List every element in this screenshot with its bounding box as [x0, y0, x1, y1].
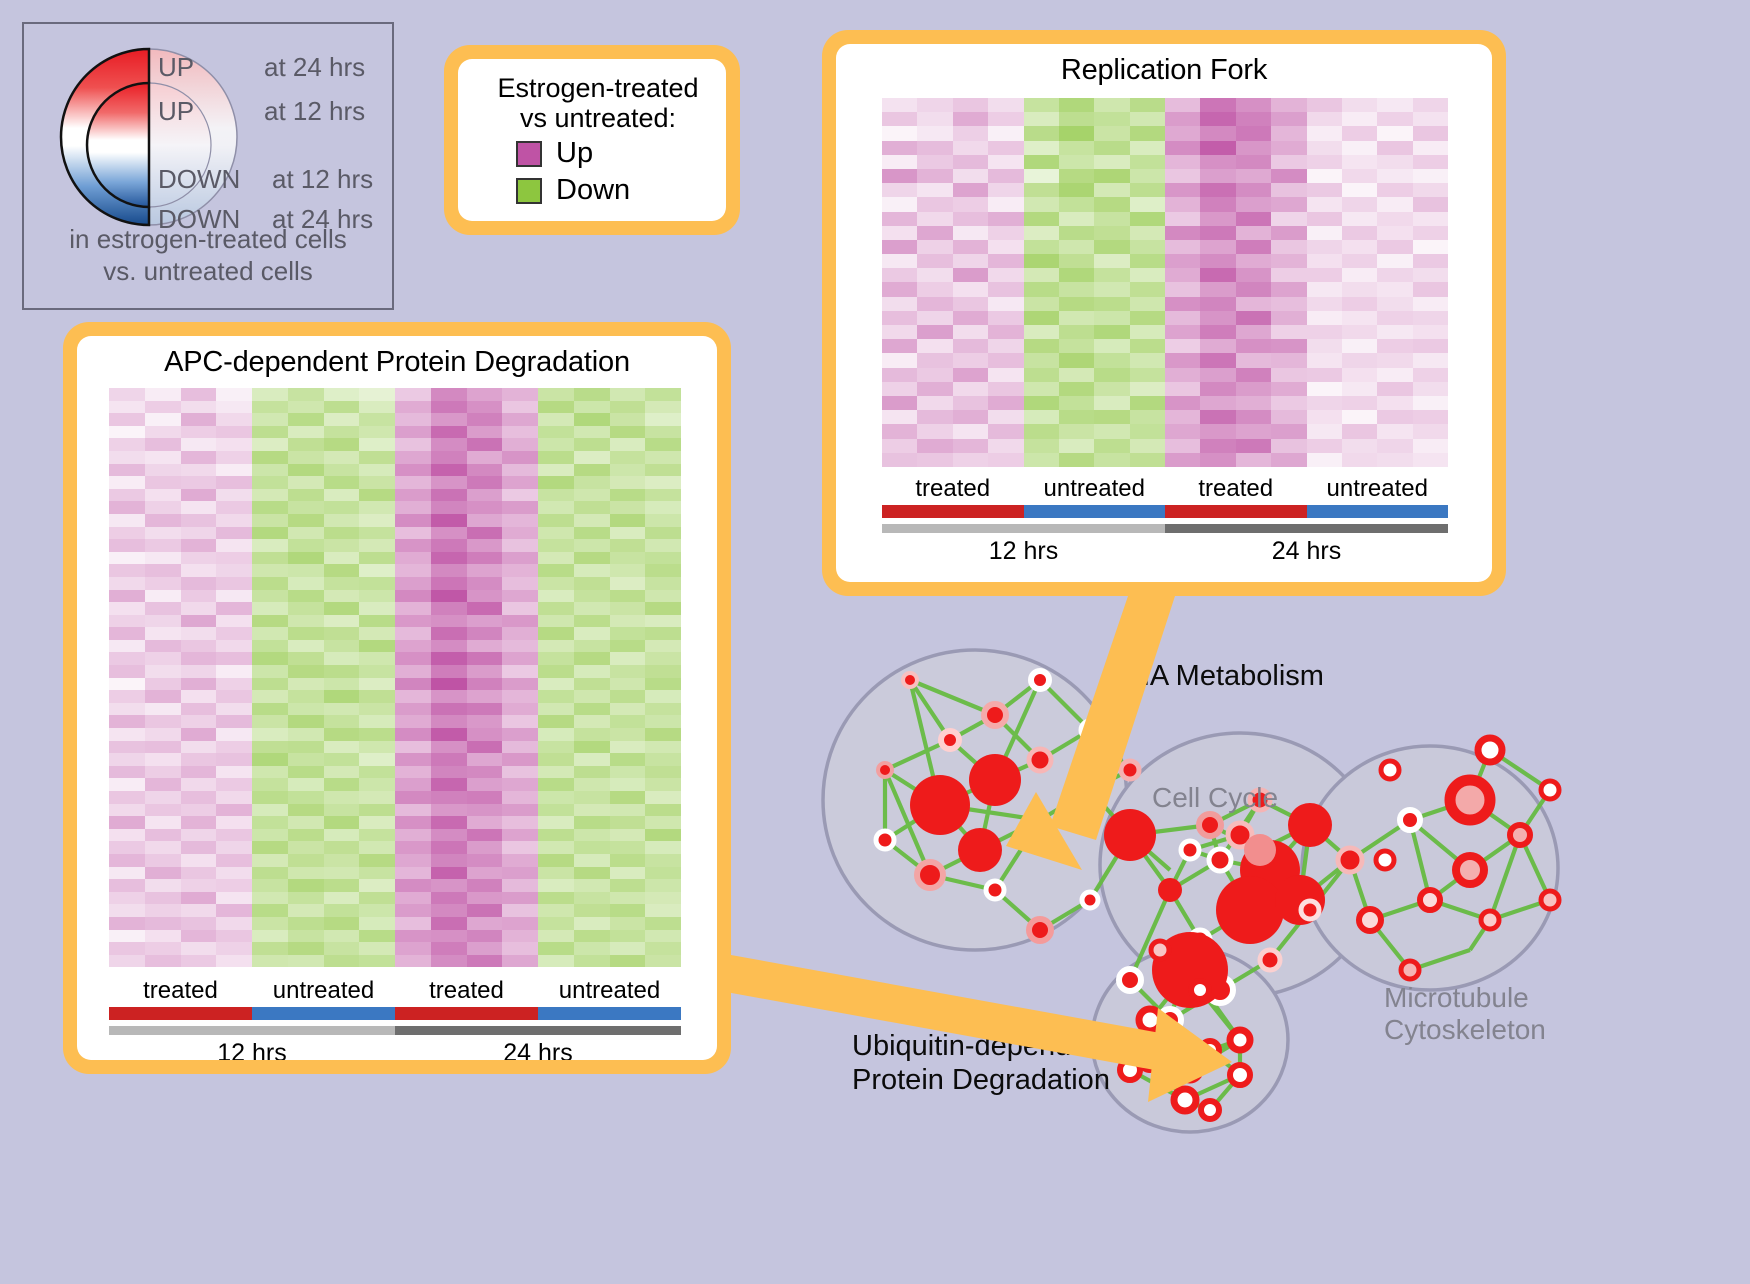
heatmap-cell: [109, 728, 145, 741]
heatmap-cell: [395, 413, 431, 426]
heatmap-cell: [610, 715, 646, 728]
heatmap-cell: [109, 464, 145, 477]
heatmap-cell: [359, 917, 395, 930]
heatmap-cell: [1130, 240, 1165, 254]
heatmap-cell: [431, 527, 467, 540]
heatmap-cell: [1200, 439, 1235, 453]
heatmap-cell: [574, 804, 610, 817]
heatmap-cell: [1271, 212, 1306, 226]
heatmap-cell: [645, 892, 681, 905]
heatmap-cell: [1377, 112, 1412, 126]
heatmap-cell: [610, 930, 646, 943]
heatmap-cell: [645, 854, 681, 867]
heatmap-cell: [1236, 353, 1271, 367]
heatmap-cell: [1059, 169, 1094, 183]
heatmap-cell: [645, 451, 681, 464]
heatmap-cell: [882, 424, 917, 438]
heatmap-cell: [1024, 424, 1059, 438]
heatmap-cell: [359, 791, 395, 804]
heatmap-cell: [1271, 197, 1306, 211]
pathway-network-diagram: DNA Metabolism Cell Cycle Microtubule Cy…: [790, 620, 1750, 1279]
heatmap-cell: [1165, 141, 1200, 155]
heatmap-cell: [953, 141, 988, 155]
heatmap-cell: [431, 678, 467, 691]
replication-fork-time-labels: 12 hrs24 hrs: [882, 537, 1448, 566]
heatmap-cell: [610, 539, 646, 552]
heatmap-cell: [1094, 155, 1129, 169]
heatmap-cell: [1377, 197, 1412, 211]
heatmap-cell: [574, 665, 610, 678]
heatmap-cell: [216, 627, 252, 640]
heatmap-cell: [109, 778, 145, 791]
heatmap-cell: [324, 527, 360, 540]
heatmap-cell: [1271, 254, 1306, 268]
heatmap-cell: [502, 464, 538, 477]
heatmap-cell: [1024, 353, 1059, 367]
heatmap-cell: [574, 930, 610, 943]
heatmap-cell: [181, 791, 217, 804]
heatmap-cell: [181, 652, 217, 665]
heatmap-cell: [467, 715, 503, 728]
heatmap-cell: [1413, 368, 1448, 382]
heatmap-cell: [431, 514, 467, 527]
heatmap-cell: [882, 382, 917, 396]
condition-label: treated: [109, 977, 252, 1005]
heatmap-cell: [181, 816, 217, 829]
heatmap-cell: [252, 766, 288, 779]
key-time-down-12: at 12 hrs: [272, 164, 373, 195]
heatmap-cell: [574, 413, 610, 426]
figure-canvas: UP at 24 hrs UP at 12 hrs DOWN at 12 hrs…: [0, 0, 1750, 1279]
heatmap-cell: [252, 879, 288, 892]
heatmap-cell: [1342, 368, 1377, 382]
heatmap-cell: [882, 112, 917, 126]
heatmap-cell: [145, 766, 181, 779]
heatmap-cell: [109, 438, 145, 451]
heatmap-cell: [645, 816, 681, 829]
heatmap-cell: [1271, 226, 1306, 240]
heatmap-cell: [1059, 368, 1094, 382]
heatmap-cell: [109, 791, 145, 804]
heatmap-cell: [1130, 353, 1165, 367]
heatmap-cell: [502, 577, 538, 590]
heatmap-cell: [145, 678, 181, 691]
heatmap-cell: [882, 396, 917, 410]
heatmap-cell: [1024, 311, 1059, 325]
heatmap-cell: [1024, 268, 1059, 282]
heatmap-cell: [1377, 98, 1412, 112]
heatmap-cell: [431, 778, 467, 791]
heatmap-cell: [288, 917, 324, 930]
heatmap-cell: [1200, 197, 1235, 211]
heatmap-cell: [216, 778, 252, 791]
heatmap-cell: [359, 942, 395, 955]
heatmap-cell: [431, 640, 467, 653]
heatmap-cell: [1130, 382, 1165, 396]
heatmap-cell: [1236, 254, 1271, 268]
heatmap-cell: [181, 879, 217, 892]
heatmap-cell: [1059, 98, 1094, 112]
heatmap-cell: [395, 955, 431, 968]
heatmap-cell: [502, 514, 538, 527]
heatmap-cell: [431, 388, 467, 401]
apc-title: APC-dependent Protein Degradation: [77, 336, 717, 379]
heatmap-cell: [145, 867, 181, 880]
heatmap-cell: [882, 98, 917, 112]
heatmap-cell: [467, 501, 503, 514]
heatmap-cell: [216, 728, 252, 741]
heatmap-cell: [467, 753, 503, 766]
heatmap-cell: [359, 778, 395, 791]
heatmap-cell: [288, 778, 324, 791]
heatmap-cell: [1342, 453, 1377, 467]
heatmap-cell: [610, 426, 646, 439]
heatmap-cell: [574, 527, 610, 540]
heatmap-cell: [359, 438, 395, 451]
heatmap-cell: [252, 476, 288, 489]
heatmap-cell: [1059, 226, 1094, 240]
heatmap-cell: [645, 438, 681, 451]
heatmap-cell: [181, 690, 217, 703]
heatmap-cell: [288, 602, 324, 615]
heatmap-cell: [145, 577, 181, 590]
heatmap-cell: [1377, 382, 1412, 396]
heatmap-cell: [288, 489, 324, 502]
heatmap-cell: [395, 401, 431, 414]
heatmap-cell: [395, 552, 431, 565]
heatmap-cell: [538, 690, 574, 703]
heatmap-cell: [145, 640, 181, 653]
heatmap-cell: [1024, 197, 1059, 211]
heatmap-cell: [324, 426, 360, 439]
heatmap-cell: [610, 652, 646, 665]
heatmap-cell: [538, 930, 574, 943]
heatmap-cell: [431, 489, 467, 502]
heatmap-cell: [145, 564, 181, 577]
cluster-label-cell-cycle: Cell Cycle: [1152, 782, 1278, 814]
heatmap-cell: [1271, 98, 1306, 112]
heatmap-cell: [359, 955, 395, 968]
panel-replication-fork: Replication Fork treateduntreatedtreated…: [822, 30, 1506, 596]
heatmap-cell: [181, 413, 217, 426]
heatmap-cell: [1165, 396, 1200, 410]
heatmap-cell: [431, 867, 467, 880]
heatmap-cell: [882, 297, 917, 311]
heatmap-cell: [1200, 410, 1235, 424]
heatmap-cell: [359, 627, 395, 640]
heatmap-cell: [1130, 297, 1165, 311]
heatmap-cell: [395, 904, 431, 917]
heatmap-cell: [1200, 282, 1235, 296]
heatmap-cell: [538, 955, 574, 968]
heatmap-cell: [953, 126, 988, 140]
heatmap-cell: [252, 930, 288, 943]
heatmap-cell: [1342, 141, 1377, 155]
heatmap-cell: [1094, 112, 1129, 126]
panel-apc-degradation: APC-dependent Protein Degradation treate…: [63, 322, 731, 1074]
heatmap-cell: [1165, 226, 1200, 240]
heatmap-cell: [988, 382, 1023, 396]
heatmap-cell: [288, 867, 324, 880]
heatmap-cell: [882, 311, 917, 325]
heatmap-cell: [502, 476, 538, 489]
heatmap-cell: [359, 867, 395, 880]
heatmap-cell: [953, 453, 988, 467]
heatmap-cell: [953, 339, 988, 353]
heatmap-cell: [145, 602, 181, 615]
heatmap-cell: [288, 627, 324, 640]
heatmap-cell: [882, 240, 917, 254]
heatmap-cell: [1236, 126, 1271, 140]
heatmap-cell: [324, 590, 360, 603]
heatmap-cell: [988, 353, 1023, 367]
heatmap-cell: [431, 577, 467, 590]
heatmap-cell: [917, 254, 952, 268]
heatmap-cell: [1307, 368, 1342, 382]
heatmap-cell: [324, 791, 360, 804]
heatmap-cell: [1094, 282, 1129, 296]
heatmap-cell: [610, 804, 646, 817]
heatmap-cell: [538, 615, 574, 628]
heatmap-cell: [1059, 268, 1094, 282]
heatmap-cell: [359, 640, 395, 653]
heatmap-cell: [953, 311, 988, 325]
heatmap-cell: [145, 753, 181, 766]
heatmap-cell: [359, 703, 395, 716]
heatmap-cell: [988, 98, 1023, 112]
heatmap-cell: [645, 829, 681, 842]
heatmap-replication-fork: [882, 98, 1448, 467]
heatmap-cell: [216, 841, 252, 854]
heatmap-cell: [216, 615, 252, 628]
heatmap-cell: [610, 552, 646, 565]
heatmap-cell: [610, 501, 646, 514]
heatmap-cell: [395, 942, 431, 955]
heatmap-cell: [1271, 453, 1306, 467]
heatmap-cell: [610, 514, 646, 527]
heatmap-cell: [288, 590, 324, 603]
heatmap-cell: [1059, 396, 1094, 410]
heatmap-cell: [1200, 112, 1235, 126]
heatmap-cell: [1024, 439, 1059, 453]
heatmap-cell: [252, 464, 288, 477]
heatmap-cell: [252, 627, 288, 640]
heatmap-cell: [1094, 126, 1129, 140]
heatmap-cell: [467, 766, 503, 779]
heatmap-cell: [324, 476, 360, 489]
heatmap-cell: [324, 778, 360, 791]
heatmap-cell: [431, 426, 467, 439]
heatmap-cell: [538, 640, 574, 653]
heatmap-cell: [953, 396, 988, 410]
heatmap-cell: [181, 841, 217, 854]
heatmap-cell: [1059, 453, 1094, 467]
heatmap-cell: [288, 942, 324, 955]
heatmap-cell: [610, 438, 646, 451]
legend-item-up: Up: [516, 137, 716, 170]
heatmap-cell: [109, 955, 145, 968]
heatmap-cell: [917, 197, 952, 211]
heatmap-cell: [502, 778, 538, 791]
condition-label: treated: [1165, 475, 1307, 503]
heatmap-cell: [917, 325, 952, 339]
heatmap-cell: [1024, 240, 1059, 254]
time-label: 24 hrs: [1165, 537, 1448, 566]
heatmap-cell: [1271, 282, 1306, 296]
heatmap-cell: [1307, 382, 1342, 396]
heatmap-cell: [917, 368, 952, 382]
heatmap-apc-degradation: [109, 388, 681, 967]
heatmap-cell: [467, 426, 503, 439]
heatmap-cell: [574, 715, 610, 728]
heatmap-cell: [1271, 112, 1306, 126]
heatmap-cell: [467, 741, 503, 754]
heatmap-cell: [1024, 325, 1059, 339]
heatmap-cell: [1236, 155, 1271, 169]
heatmap-cell: [988, 212, 1023, 226]
heatmap-cell: [917, 226, 952, 240]
heatmap-cell: [109, 867, 145, 880]
heatmap-cell: [610, 829, 646, 842]
heatmap-cell: [324, 564, 360, 577]
heatmap-cell: [324, 665, 360, 678]
heatmap-cell: [574, 627, 610, 640]
heatmap-cell: [1059, 112, 1094, 126]
heatmap-cell: [1342, 155, 1377, 169]
heatmap-cell: [216, 501, 252, 514]
heatmap-cell: [502, 917, 538, 930]
heatmap-cell: [645, 678, 681, 691]
heatmap-cell: [252, 892, 288, 905]
heatmap-cell: [610, 678, 646, 691]
heatmap-cell: [953, 268, 988, 282]
heatmap-cell: [1094, 353, 1129, 367]
heatmap-cell: [917, 169, 952, 183]
heatmap-cell: [645, 728, 681, 741]
heatmap-cell: [538, 564, 574, 577]
heatmap-cell: [538, 879, 574, 892]
heatmap-cell: [1094, 410, 1129, 424]
heatmap-cell: [1200, 169, 1235, 183]
heatmap-cell: [917, 353, 952, 367]
heatmap-cell: [181, 854, 217, 867]
heatmap-cell: [467, 527, 503, 540]
heatmap-cell: [1307, 439, 1342, 453]
heatmap-cell: [1024, 98, 1059, 112]
heatmap-cell: [1024, 453, 1059, 467]
heatmap-cell: [145, 879, 181, 892]
heatmap-cell: [1413, 297, 1448, 311]
heatmap-cell: [431, 615, 467, 628]
heatmap-cell: [181, 804, 217, 817]
heatmap-cell: [1413, 98, 1448, 112]
condition-label: untreated: [1024, 475, 1166, 503]
heatmap-cell: [252, 703, 288, 716]
heatmap-cell: [467, 678, 503, 691]
heatmap-cell: [1200, 226, 1235, 240]
heatmap-cell: [988, 169, 1023, 183]
heatmap-cell: [467, 652, 503, 665]
heatmap-cell: [574, 741, 610, 754]
condition-bar-segment: [1165, 505, 1307, 518]
heatmap-cell: [645, 841, 681, 854]
heatmap-cell: [1165, 212, 1200, 226]
heatmap-cell: [882, 169, 917, 183]
heatmap-cell: [1094, 368, 1129, 382]
heatmap-cell: [431, 917, 467, 930]
heatmap-cell: [288, 438, 324, 451]
heatmap-cell: [1307, 396, 1342, 410]
heatmap-cell: [395, 778, 431, 791]
heatmap-cell: [538, 438, 574, 451]
heatmap-cell: [109, 741, 145, 754]
heatmap-cell: [1307, 98, 1342, 112]
heatmap-cell: [467, 728, 503, 741]
heatmap-cell: [252, 577, 288, 590]
heatmap-cell: [431, 627, 467, 640]
heatmap-cell: [359, 652, 395, 665]
heatmap-cell: [431, 413, 467, 426]
heatmap-cell: [538, 476, 574, 489]
heatmap-cell: [502, 602, 538, 615]
time-bar-segment: [395, 1026, 681, 1035]
network-svg: [790, 620, 1750, 1279]
heatmap-cell: [574, 879, 610, 892]
heatmap-cell: [1271, 396, 1306, 410]
heatmap-cell: [574, 464, 610, 477]
heatmap-cell: [252, 665, 288, 678]
heatmap-cell: [502, 703, 538, 716]
heatmap-cell: [181, 703, 217, 716]
legend-swatch-down-icon: [516, 178, 542, 204]
heatmap-cell: [538, 854, 574, 867]
heatmap-cell: [1165, 155, 1200, 169]
heatmap-cell: [882, 155, 917, 169]
heatmap-cell: [145, 942, 181, 955]
heatmap-cell: [1236, 424, 1271, 438]
heatmap-cell: [538, 791, 574, 804]
condition-label: treated: [882, 475, 1024, 503]
heatmap-cell: [645, 778, 681, 791]
heatmap-cell: [1165, 98, 1200, 112]
heatmap-cell: [953, 410, 988, 424]
heatmap-cell: [988, 240, 1023, 254]
cluster-label-microtubule-cytoskeleton: Microtubule Cytoskeleton: [1384, 982, 1546, 1047]
heatmap-cell: [538, 413, 574, 426]
heatmap-cell: [1165, 254, 1200, 268]
heatmap-cell: [395, 501, 431, 514]
heatmap-cell: [431, 766, 467, 779]
heatmap-cell: [395, 665, 431, 678]
heatmap-cell: [1236, 98, 1271, 112]
heatmap-cell: [953, 297, 988, 311]
heatmap-cell: [988, 396, 1023, 410]
heatmap-cell: [1059, 212, 1094, 226]
heatmap-cell: [288, 426, 324, 439]
heatmap-cell: [181, 778, 217, 791]
heatmap-cell: [574, 426, 610, 439]
heatmap-cell: [109, 753, 145, 766]
heatmap-cell: [431, 904, 467, 917]
heatmap-cell: [988, 141, 1023, 155]
heatmap-cell: [216, 955, 252, 968]
heatmap-cell: [610, 867, 646, 880]
heatmap-cell: [467, 867, 503, 880]
heatmap-cell: [502, 854, 538, 867]
heatmap-cell: [1024, 141, 1059, 155]
heatmap-cell: [252, 388, 288, 401]
heatmap-cell: [324, 690, 360, 703]
